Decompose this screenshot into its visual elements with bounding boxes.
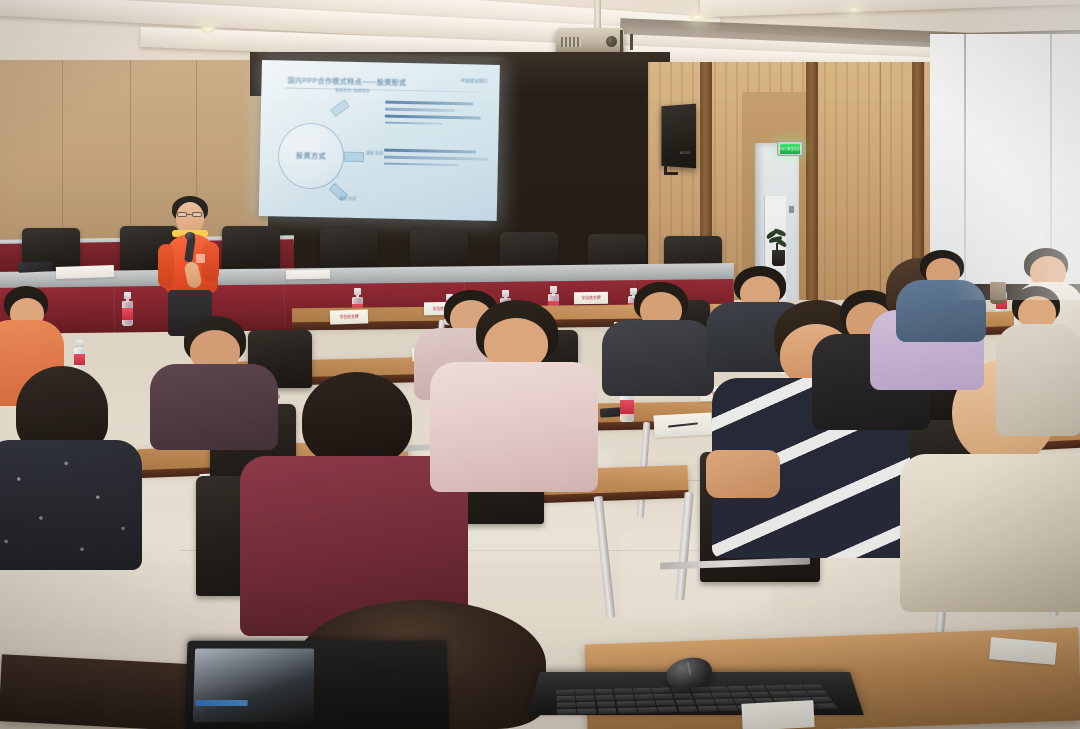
open-laptop[interactable]	[184, 641, 449, 729]
projection-screen: 国内PPP合作模式特点——投资形式 中国建设银行 投资方式 股权投资/ 股债结合…	[259, 60, 500, 221]
notepad-paper	[56, 265, 114, 279]
speaker-bracket	[664, 163, 678, 175]
screen-glare	[259, 60, 466, 221]
projector-vent	[561, 37, 581, 47]
ceiling-beam	[700, 0, 1080, 17]
notepad-paper	[741, 700, 814, 729]
attendee-pink-shirt-center	[430, 300, 600, 490]
potted-palm-plant	[766, 232, 790, 266]
exit-sign-label: EXIT 安全出口	[779, 147, 801, 151]
attendee-floral-blouse-woman	[0, 366, 150, 566]
head-table-chair[interactable]	[222, 226, 280, 272]
smartphone-on-table[interactable]	[18, 261, 52, 273]
door-plate	[789, 206, 794, 213]
downlight-icon	[690, 14, 706, 21]
laptop-display	[193, 649, 314, 723]
projector-pole-mount	[594, 0, 601, 30]
water-bottle[interactable]	[122, 292, 133, 326]
presenter-standing	[156, 196, 228, 336]
slide-logo: 中国建设银行	[461, 78, 488, 85]
microphone-head-icon	[185, 232, 195, 240]
meeting-room-photo: EXIT 安全出口 BOSE 国内PPP合作模式特点——投资形式 中国建设银行 …	[0, 0, 1080, 729]
notepad-paper	[286, 270, 330, 280]
attendee-grey-polo-far-right	[996, 286, 1080, 436]
smartphone-on-table[interactable]	[600, 407, 623, 418]
laptop-taskbar	[195, 700, 247, 706]
projector-lens-icon	[606, 36, 617, 47]
wall-mounted-loudspeaker	[661, 104, 696, 169]
shirt-logo	[196, 254, 205, 263]
downlight-icon	[846, 6, 862, 13]
attendee-blue-shirt-back-right	[896, 250, 988, 340]
attendee-pale-pink-shirt-row2	[602, 282, 716, 394]
placard-label: 学员姓名牌	[339, 314, 358, 321]
emergency-exit-sign: EXIT 安全出口	[777, 141, 803, 156]
wall-panel-white-right	[930, 34, 1080, 284]
name-placard: 学员姓名牌	[330, 309, 368, 324]
speaker-brand-mark: BOSE	[680, 151, 691, 155]
glasses-icon	[176, 212, 204, 217]
downlight-icon	[200, 26, 216, 33]
